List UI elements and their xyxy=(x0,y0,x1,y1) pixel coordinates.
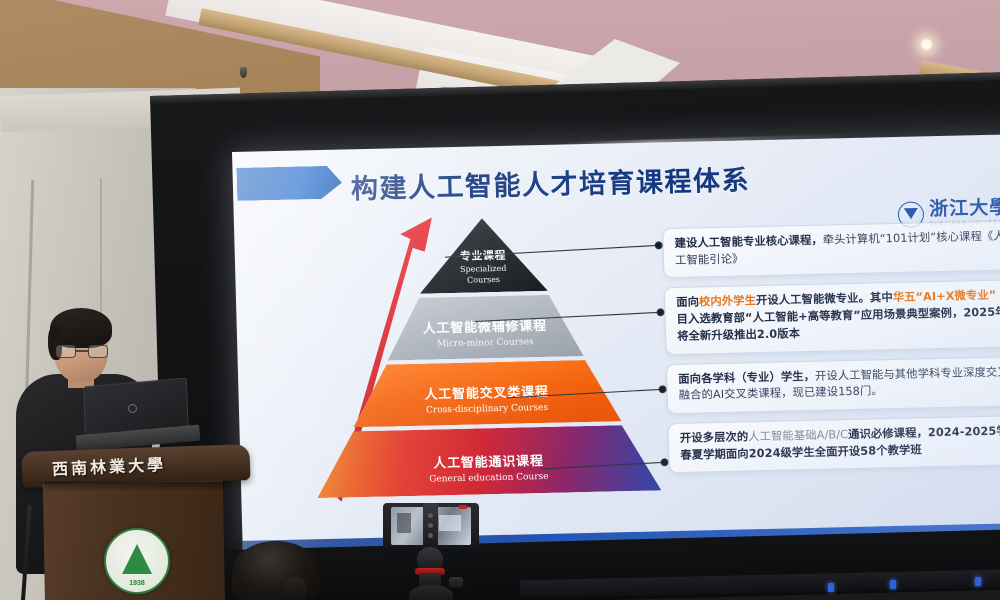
conference-room-photo: 构建人工智能人才培育课程体系 浙江大學 ZHEJIANG UNIVERSITY xyxy=(0,0,1000,600)
emblem-year: 1938 xyxy=(106,580,168,587)
glasses-lens-left xyxy=(56,345,76,358)
projection-screen: 构建人工智能人才培育课程体系 浙江大學 ZHEJIANG UNIVERSITY xyxy=(232,134,1000,552)
podium-shadow xyxy=(44,482,224,492)
speaker-glasses xyxy=(56,345,108,358)
clamp-red-marker xyxy=(459,505,467,509)
tripod-tension-knob xyxy=(449,577,463,588)
phone-clamp xyxy=(383,503,479,549)
sprinkler-head-1 xyxy=(240,67,247,78)
box-cross-disciplinary-text: 面向各学科（专业）学生，开设人工智能与其他学科专业深度交叉融合的AI交叉类课程，… xyxy=(678,365,1000,402)
box-micro-minor: 面向校内外学生开设人工智能微专业。其中华五“AI+X微专业” 项目入选教育部“人… xyxy=(664,279,1000,354)
clamp-dot-3 xyxy=(428,533,433,538)
speaker-at-podium: 西南林業大學 1938 xyxy=(0,270,270,600)
box-cross-disciplinary: 面向各学科（专业）学生，开设人工智能与其他学科专业深度交叉融合的AI交叉类课程，… xyxy=(666,356,1000,415)
box-general-education: 开设多层次的人工智能基础A/B/C通识必修课程，2024-2025学年春夏学期面… xyxy=(667,415,1000,474)
equipment-led-3 xyxy=(975,577,981,586)
equipment-led-1 xyxy=(828,583,834,592)
box-micro-minor-text: 面向校内外学生开设人工智能微专业。其中华五“AI+X微专业” 项目入选教育部“人… xyxy=(676,289,1000,343)
phone-tripod-rig xyxy=(383,503,493,600)
clamp-dot-1 xyxy=(428,513,433,518)
emblem-tree-icon xyxy=(122,544,152,574)
presentation-slide: 构建人工智能人才培育课程体系 浙江大學 ZHEJIANG UNIVERSITY xyxy=(232,134,1000,552)
glasses-lens-right xyxy=(88,345,108,358)
glasses-bridge xyxy=(76,350,88,352)
equipment-led-2 xyxy=(890,580,896,589)
university-emblem-icon: 1938 xyxy=(104,528,170,594)
slide-description-boxes: 建设人工智能专业核心课程，牵头计算机“101计划”核心课程《人工智能引论》 面向… xyxy=(662,220,1000,483)
audience-member-head xyxy=(232,541,320,600)
box-specialized: 建设人工智能专业核心课程，牵头计算机“101计划”核心课程《人工智能引论》 xyxy=(662,220,1000,279)
clamp-dot-2 xyxy=(428,523,433,528)
box-general-education-text: 开设多层次的人工智能基础A/B/C通识必修课程，2024-2025学年春夏学期面… xyxy=(680,424,1000,461)
tripod-base xyxy=(409,585,453,600)
ceiling-downlight-2 xyxy=(920,38,933,51)
box-specialized-text: 建设人工智能专业核心课程，牵头计算机“101计划”核心课程《人工智能引论》 xyxy=(674,229,1000,266)
